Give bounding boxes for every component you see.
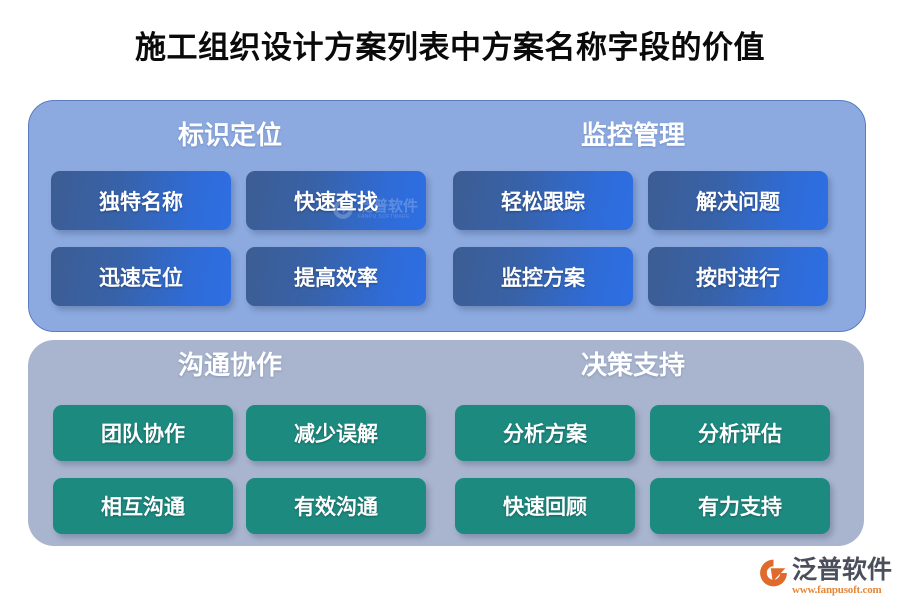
- group-heading-communication: 沟通协作: [60, 348, 400, 382]
- card-improve-efficiency[interactable]: 提高效率: [246, 247, 426, 306]
- card-quick-find[interactable]: 快速查找: [246, 171, 426, 230]
- card-mutual-communication[interactable]: 相互沟通: [53, 478, 233, 534]
- card-solve-problems[interactable]: 解决问题: [648, 171, 828, 230]
- group-heading-decision-support: 决策支持: [463, 348, 803, 382]
- card-analysis-evaluation[interactable]: 分析评估: [650, 405, 830, 461]
- card-unique-name[interactable]: 独特名称: [51, 171, 231, 230]
- brand-logo: 泛普软件 www.fanpusoft.com: [757, 557, 897, 599]
- card-effective-communication[interactable]: 有效沟通: [246, 478, 426, 534]
- logo-url: www.fanpusoft.com: [792, 584, 892, 597]
- card-team-collaboration[interactable]: 团队协作: [53, 405, 233, 461]
- card-reduce-misunderstanding[interactable]: 减少误解: [246, 405, 426, 461]
- card-analyze-plan[interactable]: 分析方案: [455, 405, 635, 461]
- logo-brand-name: 泛普软件: [792, 557, 892, 583]
- group-heading-identification: 标识定位: [60, 118, 400, 152]
- card-easy-tracking[interactable]: 轻松跟踪: [453, 171, 633, 230]
- card-on-schedule[interactable]: 按时进行: [648, 247, 828, 306]
- card-quick-review[interactable]: 快速回顾: [455, 478, 635, 534]
- group-heading-monitoring: 监控管理: [463, 118, 803, 152]
- infographic-canvas: 施工组织设计方案列表中方案名称字段的价值 标识定位 监控管理 独特名称 快速查找…: [0, 0, 900, 600]
- page-title: 施工组织设计方案列表中方案名称字段的价值: [0, 26, 900, 70]
- card-monitor-plan[interactable]: 监控方案: [453, 247, 633, 306]
- card-fast-locate[interactable]: 迅速定位: [51, 247, 231, 306]
- fanpu-swoosh-icon: [757, 558, 790, 588]
- card-strong-support[interactable]: 有力支持: [650, 478, 830, 534]
